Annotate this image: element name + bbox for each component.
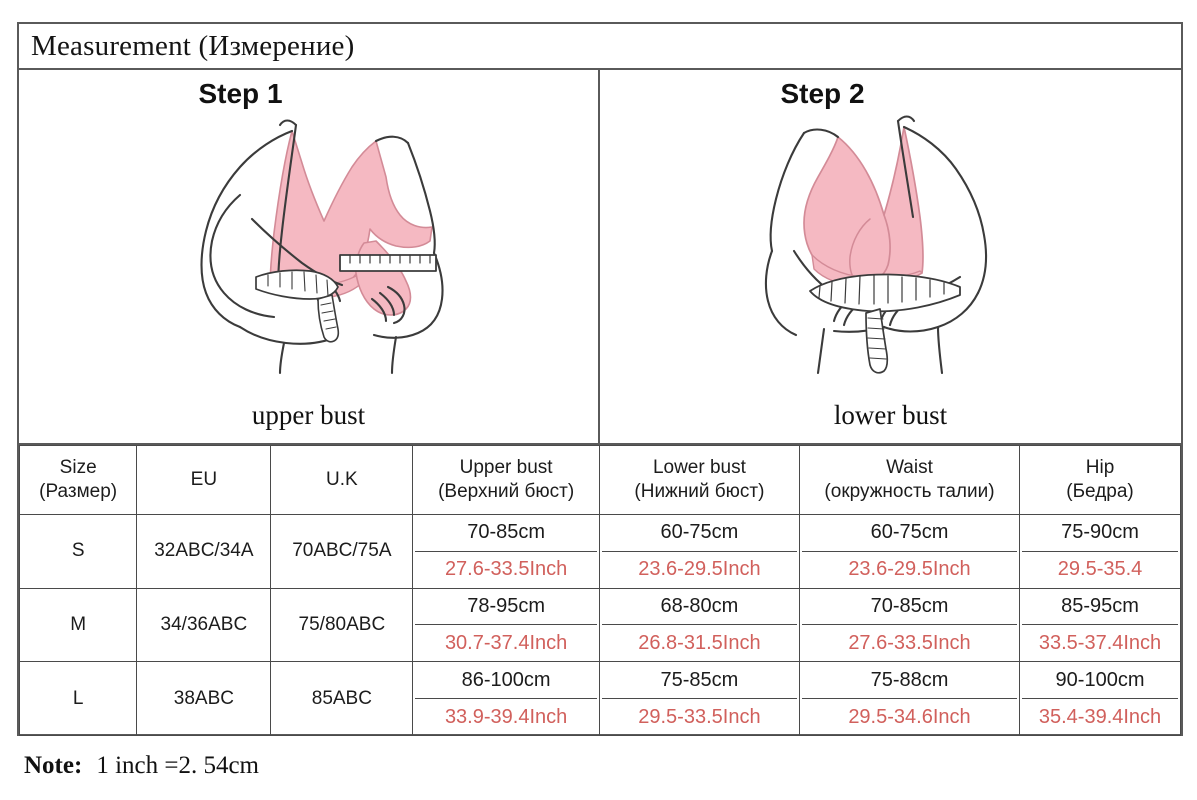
cell-waist: 70-85cm 27.6-33.5Inch	[799, 588, 1019, 662]
cell-waist-inch: 23.6-29.5Inch	[802, 552, 1017, 588]
cell-upper-bust: 86-100cm 33.9-39.4Inch	[413, 662, 600, 736]
cell-lower-bust: 68-80cm 26.8-31.5Inch	[599, 588, 799, 662]
cell-hip: 85-95cm 33.5-37.4Inch	[1020, 588, 1181, 662]
cell-lower-bust: 60-75cm 23.6-29.5Inch	[599, 514, 799, 588]
header-cell-size: Size (Размер)	[20, 446, 137, 515]
cell-upper-bust: 70-85cm 27.6-33.5Inch	[413, 514, 600, 588]
cell-upper-bust-inch: 30.7-37.4Inch	[415, 625, 597, 661]
torso-upper-bust-figure	[144, 91, 474, 376]
size-chart-root: Measurement (Измерение) Step 1	[0, 0, 1197, 800]
cell-hip-inch: 33.5-37.4Inch	[1022, 625, 1178, 661]
cell-upper-bust-inch: 27.6-33.5Inch	[415, 552, 597, 588]
header-hip-line1: Hip	[1086, 457, 1115, 478]
cell-upper-bust-cm: 86-100cm	[415, 662, 597, 699]
cell-waist-cm: 60-75cm	[802, 515, 1017, 552]
cell-hip-cm: 90-100cm	[1022, 662, 1178, 699]
page-title: Measurement (Измерение)	[19, 30, 355, 63]
size-table: Size (Размер) EU U.K Upper bust (Верхний…	[19, 445, 1181, 736]
cell-lower-bust-cm: 68-80cm	[602, 589, 797, 626]
cell-upper-bust: 78-95cm 30.7-37.4Inch	[413, 588, 600, 662]
cell-eu: 32ABC/34A	[137, 514, 271, 588]
header-size-line1: Size	[60, 457, 97, 478]
header-cell-eu: EU	[137, 446, 271, 515]
panel-step-1: Step 1	[19, 70, 600, 443]
cell-upper-bust-cm: 78-95cm	[415, 589, 597, 626]
size-table-container: Size (Размер) EU U.K Upper bust (Верхний…	[19, 445, 1181, 736]
cell-hip: 90-100cm 35.4-39.4Inch	[1020, 662, 1181, 736]
cell-upper-bust-inch: 33.9-39.4Inch	[415, 699, 597, 735]
cell-hip: 75-90cm 29.5-35.4	[1020, 514, 1181, 588]
note: Note:1 inch =2. 54cm	[24, 752, 259, 780]
header-upper-line1: Upper bust	[460, 457, 553, 478]
header-eu-line1: EU	[191, 469, 217, 490]
cell-uk: 75/80ABC	[271, 588, 413, 662]
title-bar: Measurement (Измерение)	[19, 24, 1181, 70]
cell-hip-cm: 75-90cm	[1022, 515, 1178, 552]
header-lower-line2: (Нижний бюст)	[602, 480, 797, 504]
table-header-row: Size (Размер) EU U.K Upper bust (Верхний…	[20, 446, 1181, 515]
cell-waist-cm: 75-88cm	[802, 662, 1017, 699]
cell-waist: 75-88cm 29.5-34.6Inch	[799, 662, 1019, 736]
header-upper-line2: (Верхний бюст)	[415, 480, 597, 504]
note-label: Note:	[24, 752, 82, 779]
step-1-label: Step 1	[198, 78, 282, 110]
cell-waist: 60-75cm 23.6-29.5Inch	[799, 514, 1019, 588]
header-uk-line1: U.K	[326, 469, 358, 490]
step-2-caption: lower bust	[600, 400, 1181, 431]
step-2-label: Step 2	[780, 78, 864, 110]
cell-hip-inch: 35.4-39.4Inch	[1022, 699, 1178, 735]
header-cell-hip: Hip (Бедра)	[1020, 446, 1181, 515]
cell-waist-cm: 70-85cm	[802, 589, 1017, 626]
cell-waist-inch: 29.5-34.6Inch	[802, 699, 1017, 735]
cell-size: L	[20, 662, 137, 736]
header-waist-line1: Waist	[886, 457, 933, 478]
header-hip-line2: (Бедра)	[1022, 480, 1178, 504]
header-waist-line2: (окружность талии)	[802, 480, 1017, 504]
chart-frame: Measurement (Измерение) Step 1	[17, 22, 1183, 736]
table-row: M 34/36ABC 75/80ABC 78-95cm 30.7-37.4Inc…	[20, 588, 1181, 662]
step-1-caption: upper bust	[19, 400, 598, 431]
table-row: S 32ABC/34A 70ABC/75A 70-85cm 27.6-33.5I…	[20, 514, 1181, 588]
illustration-panels: Step 1	[19, 70, 1181, 445]
cell-lower-bust-cm: 75-85cm	[602, 662, 797, 699]
cell-hip-cm: 85-95cm	[1022, 589, 1178, 626]
header-cell-waist: Waist (окружность талии)	[799, 446, 1019, 515]
cell-size: M	[20, 588, 137, 662]
cell-lower-bust-cm: 60-75cm	[602, 515, 797, 552]
cell-uk: 85ABC	[271, 662, 413, 736]
note-value: 1 inch =2. 54cm	[96, 752, 259, 779]
cell-lower-bust-inch: 29.5-33.5Inch	[602, 699, 797, 735]
cell-lower-bust-inch: 26.8-31.5Inch	[602, 625, 797, 661]
header-cell-uk: U.K	[271, 446, 413, 515]
cell-size: S	[20, 514, 137, 588]
cell-lower-bust: 75-85cm 29.5-33.5Inch	[599, 662, 799, 736]
cell-hip-inch: 29.5-35.4	[1022, 552, 1178, 588]
cell-lower-bust-inch: 23.6-29.5Inch	[602, 552, 797, 588]
cell-eu: 34/36ABC	[137, 588, 271, 662]
cell-eu: 38ABC	[137, 662, 271, 736]
cell-waist-inch: 27.6-33.5Inch	[802, 625, 1017, 661]
torso-lower-bust-figure	[726, 91, 1056, 376]
header-cell-upper-bust: Upper bust (Верхний бюст)	[413, 446, 600, 515]
cell-uk: 70ABC/75A	[271, 514, 413, 588]
header-size-line2: (Размер)	[22, 480, 134, 504]
step-2-illustration	[600, 88, 1181, 378]
panel-step-2: Step 2	[600, 70, 1181, 443]
header-lower-line1: Lower bust	[653, 457, 746, 478]
table-row: L 38ABC 85ABC 86-100cm 33.9-39.4Inch 75-…	[20, 662, 1181, 736]
cell-upper-bust-cm: 70-85cm	[415, 515, 597, 552]
header-cell-lower-bust: Lower bust (Нижний бюст)	[599, 446, 799, 515]
step-1-illustration	[19, 88, 598, 378]
